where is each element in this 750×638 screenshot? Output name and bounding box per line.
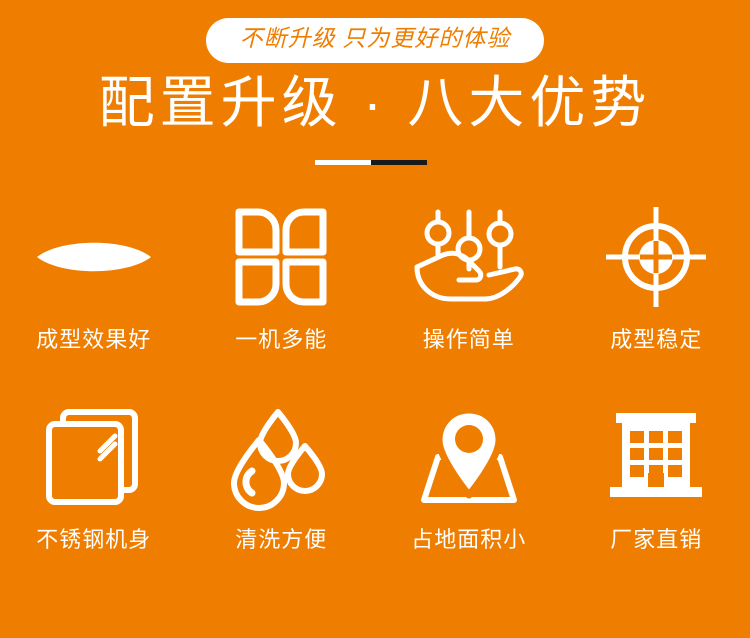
feature-label-6: 清洗方便 xyxy=(235,527,327,553)
feature-item-7: 占地面积小 xyxy=(375,396,563,596)
title-divider xyxy=(315,160,427,165)
lens-shape-icon xyxy=(34,204,154,309)
feature-item-4: 成型稳定 xyxy=(563,196,750,396)
stacked-plates-icon xyxy=(34,404,154,509)
feature-label-4: 成型稳定 xyxy=(610,327,702,353)
divider-right-segment xyxy=(371,160,427,165)
feature-item-3: 操作简单 xyxy=(375,196,563,396)
feature-label-2: 一机多能 xyxy=(235,327,327,353)
water-droplets-icon xyxy=(221,404,341,509)
title-row: 配置升级 · 八大优势 xyxy=(0,72,750,134)
crosshair-target-icon xyxy=(596,204,716,309)
feature-item-2: 一机多能 xyxy=(188,196,376,396)
feature-item-8: 厂家直销 xyxy=(563,396,750,596)
page-title: 配置升级 · 八大优势 xyxy=(0,72,750,134)
feature-grid: 成型效果好 一机多能 xyxy=(0,196,750,596)
tagline-badge: 不断升级 只为更好的体验 xyxy=(206,18,545,63)
factory-building-icon xyxy=(596,404,716,509)
feature-label-3: 操作简单 xyxy=(423,327,515,353)
four-petals-icon xyxy=(221,204,341,309)
feature-label-5: 不锈钢机身 xyxy=(36,527,151,553)
promo-banner-page: 不断升级 只为更好的体验 配置升级 · 八大优势 成型效果好 xyxy=(0,0,750,638)
feature-item-1: 成型效果好 xyxy=(0,196,188,396)
feature-label-1: 成型效果好 xyxy=(36,327,151,353)
badge-row: 不断升级 只为更好的体验 xyxy=(0,18,750,63)
feature-item-6: 清洗方便 xyxy=(188,396,376,596)
feature-item-5: 不锈钢机身 xyxy=(0,396,188,596)
map-pin-icon xyxy=(409,404,529,509)
hand-sliders-icon xyxy=(409,204,529,309)
feature-label-8: 厂家直销 xyxy=(610,527,702,553)
feature-label-7: 占地面积小 xyxy=(411,527,526,553)
divider-left-segment xyxy=(315,160,371,165)
header-section: 不断升级 只为更好的体验 配置升级 · 八大优势 xyxy=(0,0,750,190)
